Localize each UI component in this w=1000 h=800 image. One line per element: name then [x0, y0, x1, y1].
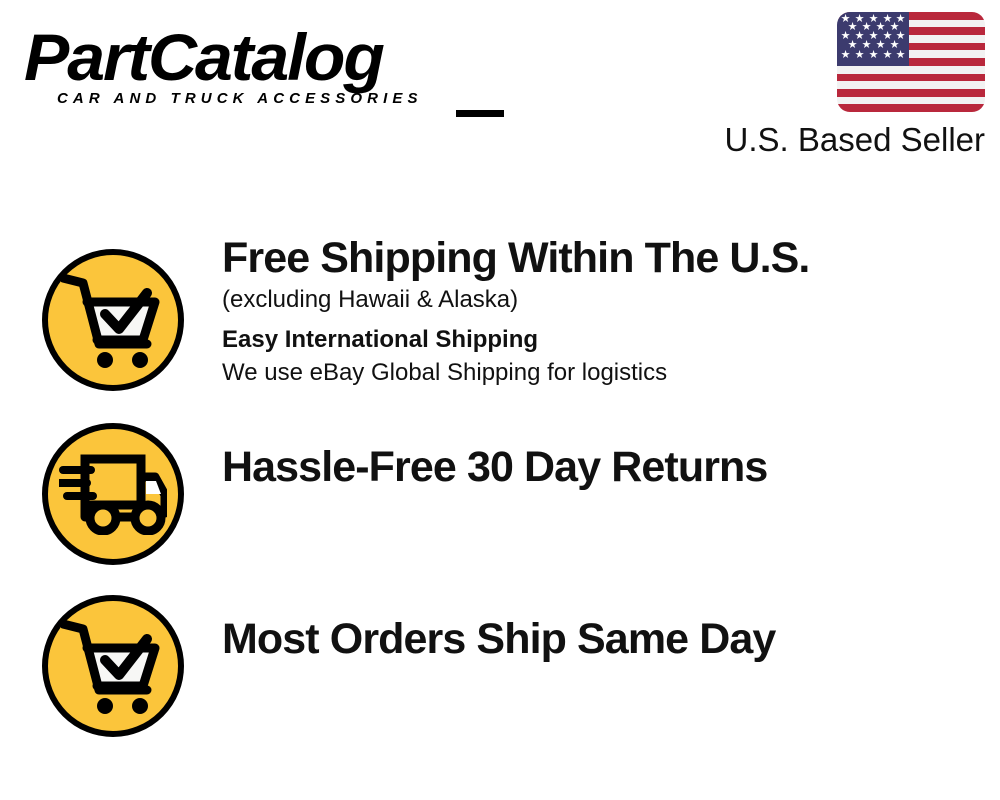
flag-star: ★	[840, 50, 851, 61]
logo-tagline: CAR AND TRUCK ACCESSORIES	[57, 90, 423, 107]
benefit-sub-plain: We use eBay Global Shipping for logistic…	[222, 356, 980, 389]
benefit-text-block: Most Orders Ship Same Day	[222, 614, 980, 664]
delivery-truck-icon	[42, 423, 184, 565]
flag-star: ★	[868, 50, 879, 61]
benefit-row: Most Orders Ship Same Day	[0, 569, 1000, 741]
benefit-heading: Most Orders Ship Same Day	[222, 614, 980, 664]
us-based-seller-badge: ★ ★ ★ ★ ★ ★ ★ ★ ★ ★ ★ ★ ★ ★ ★ ★ ★ ★ ★ ★	[715, 12, 985, 159]
flag-canton: ★ ★ ★ ★ ★ ★ ★ ★ ★ ★ ★ ★ ★ ★ ★ ★ ★ ★ ★ ★	[837, 12, 909, 66]
benefit-text-block: Hassle-Free 30 Day Returns	[222, 442, 980, 492]
us-flag-icon: ★ ★ ★ ★ ★ ★ ★ ★ ★ ★ ★ ★ ★ ★ ★ ★ ★ ★ ★ ★	[837, 12, 985, 112]
benefit-heading: Free Shipping Within The U.S.	[222, 233, 980, 283]
brand-logo: PartCatalog CAR AND TRUCK ACCESSORIES	[24, 22, 504, 122]
flag-star: ★	[854, 50, 865, 61]
benefit-row: Hassle-Free 30 Day Returns	[0, 397, 1000, 569]
us-based-seller-label: U.S. Based Seller	[715, 121, 985, 159]
flag-star: ★	[895, 50, 906, 61]
shopping-cart-check-icon	[42, 249, 184, 391]
flag-star: ★	[882, 50, 893, 61]
flag-stripe	[837, 74, 985, 82]
benefit-sub-bold: Easy International Shipping	[222, 316, 980, 356]
flag-stripe	[837, 97, 985, 105]
flag-stripe	[837, 104, 985, 112]
logo-wordmark: PartCatalog	[24, 22, 518, 92]
flag-stripe	[837, 81, 985, 89]
benefit-subnote: (excluding Hawaii & Alaska)	[222, 283, 980, 316]
flag-stripe	[837, 89, 985, 97]
logo-swash-decoration	[456, 110, 504, 117]
banner-header: PartCatalog CAR AND TRUCK ACCESSORIES ★ …	[0, 0, 1000, 170]
benefit-heading: Hassle-Free 30 Day Returns	[222, 442, 980, 492]
shopping-cart-check-icon	[42, 595, 184, 737]
benefit-row: Free Shipping Within The U.S. (excluding…	[0, 225, 1000, 397]
benefit-text-block: Free Shipping Within The U.S. (excluding…	[222, 233, 980, 389]
flag-stripe	[837, 66, 985, 74]
